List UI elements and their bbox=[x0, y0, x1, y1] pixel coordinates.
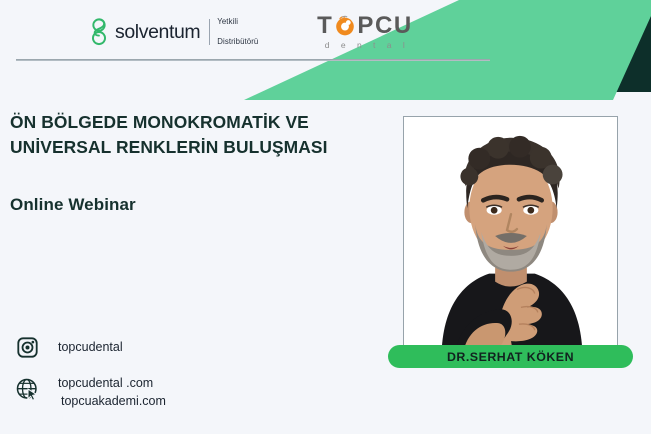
page-subtitle: Online Webinar bbox=[10, 195, 136, 215]
speaker-name-badge: DR.SERHAT KÖKEN bbox=[388, 345, 633, 368]
portrait-of-speaker bbox=[404, 117, 617, 352]
header-logos: solventum Yetkili Distribütörü T bbox=[88, 8, 258, 56]
topcu-letter-t: T bbox=[317, 13, 333, 39]
instagram-row[interactable]: topcudental bbox=[12, 332, 166, 362]
website-link-1[interactable]: topcudental .com bbox=[58, 374, 166, 392]
distributor-line-1: Yetkili bbox=[217, 17, 258, 27]
topcu-letters-pcu: PCU bbox=[357, 13, 412, 39]
page-title: ÖN BÖLGEDE MONOKROMATİK VE UNİVERSAL REN… bbox=[10, 110, 385, 160]
webinar-slide: solventum Yetkili Distribütörü T bbox=[0, 0, 651, 434]
distributor-line-2: Distribütörü bbox=[217, 37, 258, 47]
solventum-s-mark-icon bbox=[88, 17, 110, 47]
authorized-distributor-label: Yetkili Distribütörü bbox=[217, 7, 258, 57]
instagram-icon bbox=[12, 332, 42, 362]
topcu-subtitle: d e n t a l bbox=[310, 40, 420, 50]
website-row[interactable]: topcudental .com topcuakademi.com bbox=[12, 374, 166, 410]
topcu-wordmark: T PCU bbox=[310, 13, 420, 39]
title-line-1: ÖN BÖLGEDE MONOKROMATİK VE bbox=[10, 110, 385, 135]
header-divider bbox=[16, 59, 490, 61]
instagram-handle: topcudental bbox=[58, 338, 123, 356]
topcu-dental-logo: T PCU d e n t a l bbox=[310, 13, 420, 50]
website-link-2[interactable]: topcuakademi.com bbox=[58, 392, 166, 410]
speaker-photo bbox=[403, 116, 618, 353]
topcu-orange-ring-icon bbox=[334, 15, 356, 37]
website-links: topcudental .com topcuakademi.com bbox=[58, 374, 166, 410]
contact-block: topcudental topcudental .com topcuakadem… bbox=[12, 332, 166, 422]
solventum-wordmark: solventum bbox=[115, 23, 200, 43]
globe-cursor-icon bbox=[12, 374, 42, 404]
solventum-logo: solventum bbox=[88, 15, 200, 49]
vertical-divider-icon bbox=[209, 19, 210, 45]
title-line-2: UNİVERSAL RENKLERİN BULUŞMASI bbox=[10, 135, 385, 160]
